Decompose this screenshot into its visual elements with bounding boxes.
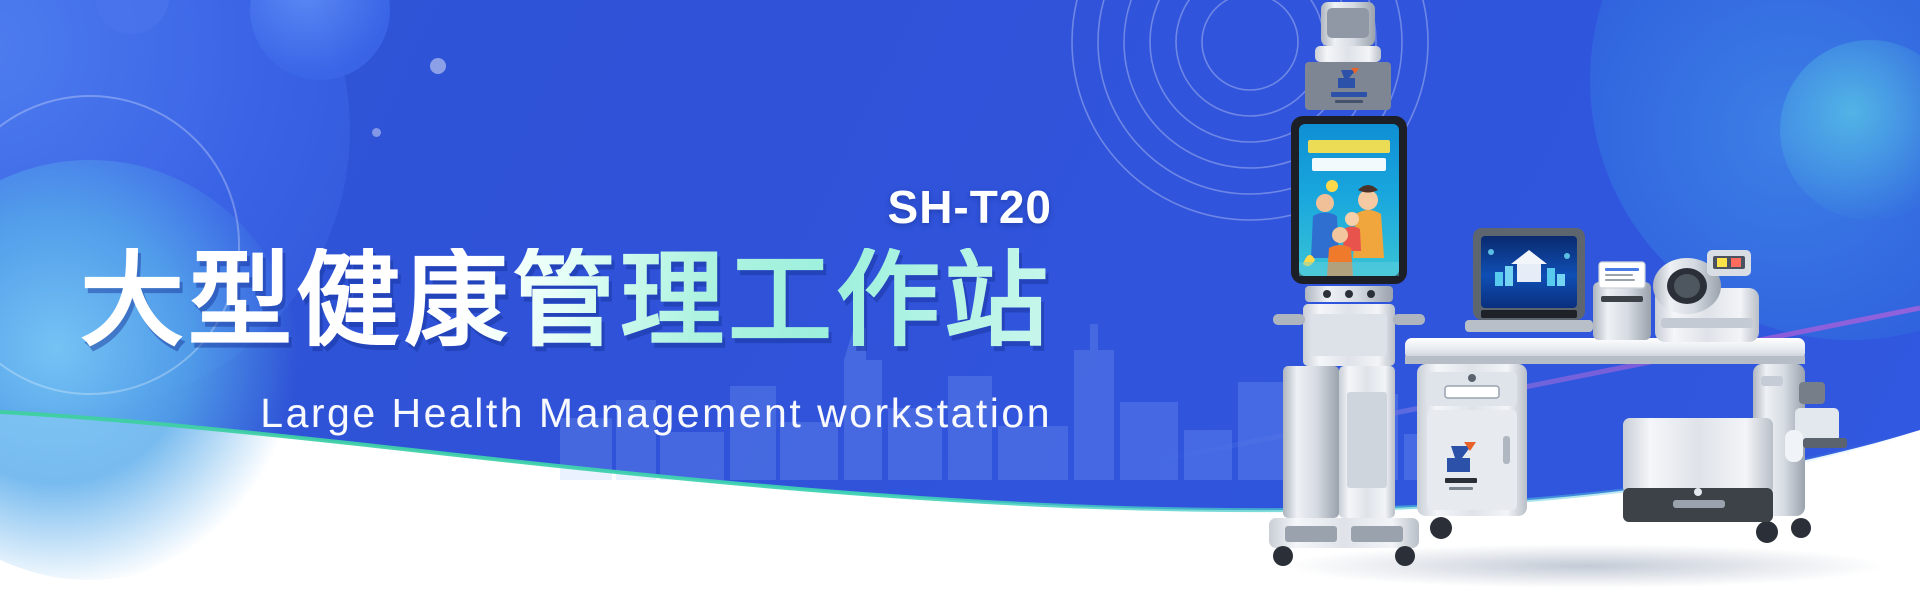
laptop-base	[1465, 320, 1593, 332]
product-image-group	[1255, 0, 1920, 600]
desk-unit	[1405, 338, 1847, 543]
kiosk-column	[1283, 366, 1339, 518]
decor-dot-one	[430, 58, 446, 74]
desk-caster-right	[1756, 521, 1778, 543]
kiosk-unit	[1269, 2, 1425, 566]
laptop-screen-label-bar	[1481, 310, 1577, 318]
poster-sun-icon	[1326, 180, 1338, 192]
kiosk-caster-right	[1395, 546, 1415, 566]
receipt-printer	[1593, 262, 1651, 340]
laptop-unit	[1465, 228, 1593, 332]
analyzer-power-icon	[1694, 488, 1702, 496]
decor-dot-two	[372, 128, 381, 137]
product-banner: SH-T20 大型健康管理工作站 Large Health Management…	[0, 0, 1920, 600]
analyzer-unit	[1623, 418, 1773, 522]
kiosk-handle-right	[1393, 314, 1425, 325]
kiosk-handle-left	[1273, 314, 1305, 325]
cabinet-power-icon	[1468, 374, 1476, 382]
floor-shadow	[1285, 544, 1885, 588]
blood-pressure-unit	[1653, 250, 1759, 342]
desk-caster-right2	[1791, 518, 1811, 538]
desk-caster-left	[1430, 517, 1452, 539]
kiosk-caster-left	[1273, 546, 1293, 566]
